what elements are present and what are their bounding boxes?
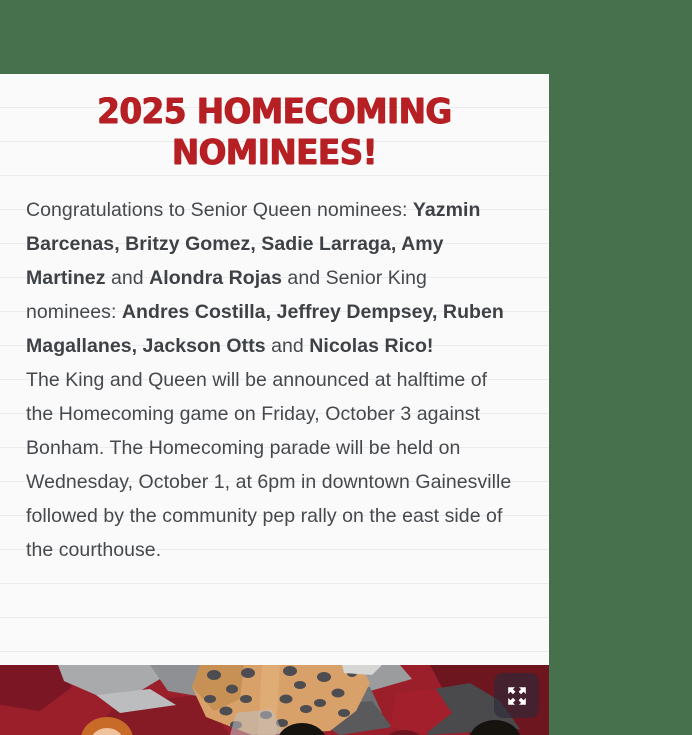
expand-arrows-icon: [505, 684, 529, 708]
expand-image-button[interactable]: [494, 673, 539, 718]
page-root: 2025 Homecoming Nominees! Congratulation…: [0, 0, 692, 735]
page-title-line-1: 2025 Homecoming: [56, 92, 492, 133]
intro-lead-text: Congratulations to Senior Queen nominees…: [26, 199, 413, 221]
card-content: 2025 Homecoming Nominees! Congratulation…: [0, 74, 549, 567]
nominees-paragraph: Congratulations to Senior Queen nominees…: [26, 193, 519, 363]
event-details-paragraph: The King and Queen will be announced at …: [26, 363, 519, 567]
queen-last-nominee-name: Alondra Rojas: [149, 267, 282, 289]
announcement-card: 2025 Homecoming Nominees! Congratulation…: [0, 74, 549, 735]
announcement-body: Congratulations to Senior Queen nominees…: [0, 174, 549, 567]
mural-group-photo: [0, 665, 549, 735]
king-last-nominee-name: Nicolas Rico!: [309, 335, 433, 357]
conjunction-3: and: [266, 335, 310, 357]
photo-container[interactable]: [0, 665, 549, 735]
conjunction-1: and: [106, 267, 150, 289]
page-title-line-2: Nominees!: [56, 133, 492, 174]
page-title: 2025 Homecoming Nominees!: [19, 74, 530, 174]
